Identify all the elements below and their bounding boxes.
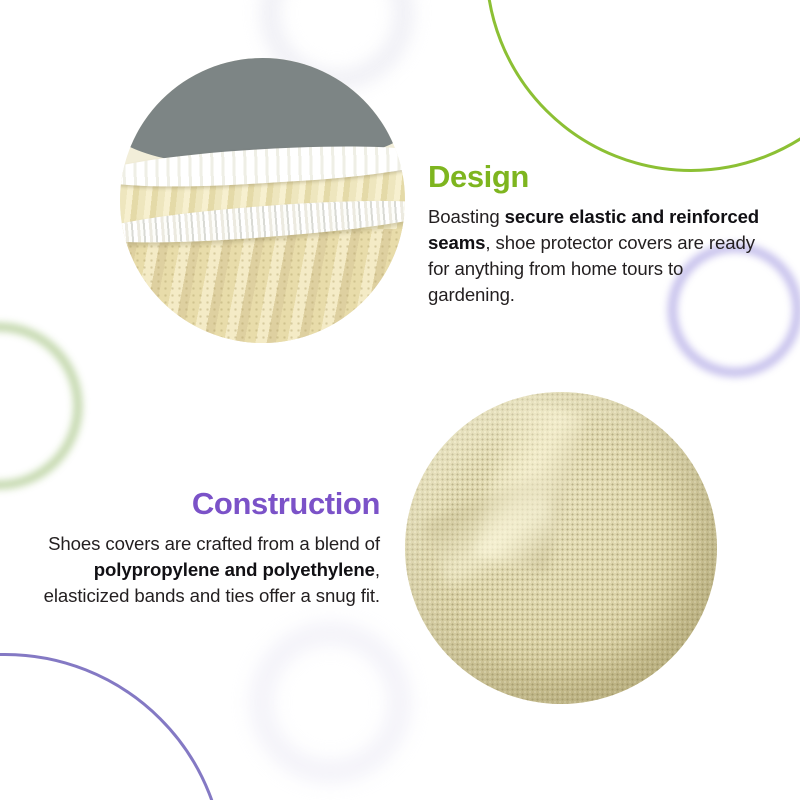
design-section: Design Boasting secure elastic and reinf… — [428, 160, 774, 308]
shoe-cover-photo — [120, 58, 405, 343]
design-body-text: Boasting secure elastic and reinforced s… — [428, 204, 774, 308]
construction-heading: Construction — [14, 487, 380, 522]
infographic-canvas: Design Boasting secure elastic and reinf… — [0, 0, 800, 800]
decorative-ring-green-outline — [485, 0, 800, 172]
construction-body-text: Shoes covers are crafted from a blend of… — [14, 531, 380, 609]
decorative-ring-faint-bottom — [253, 625, 408, 780]
fabric-vignette — [405, 392, 717, 704]
construction-section: Construction Shoes covers are crafted fr… — [14, 487, 380, 609]
decorative-ring-green-soft-left — [0, 323, 82, 489]
design-heading: Design — [428, 160, 774, 195]
decorative-ring-purple-bottom — [0, 653, 226, 800]
fabric-texture-photo — [405, 392, 717, 704]
